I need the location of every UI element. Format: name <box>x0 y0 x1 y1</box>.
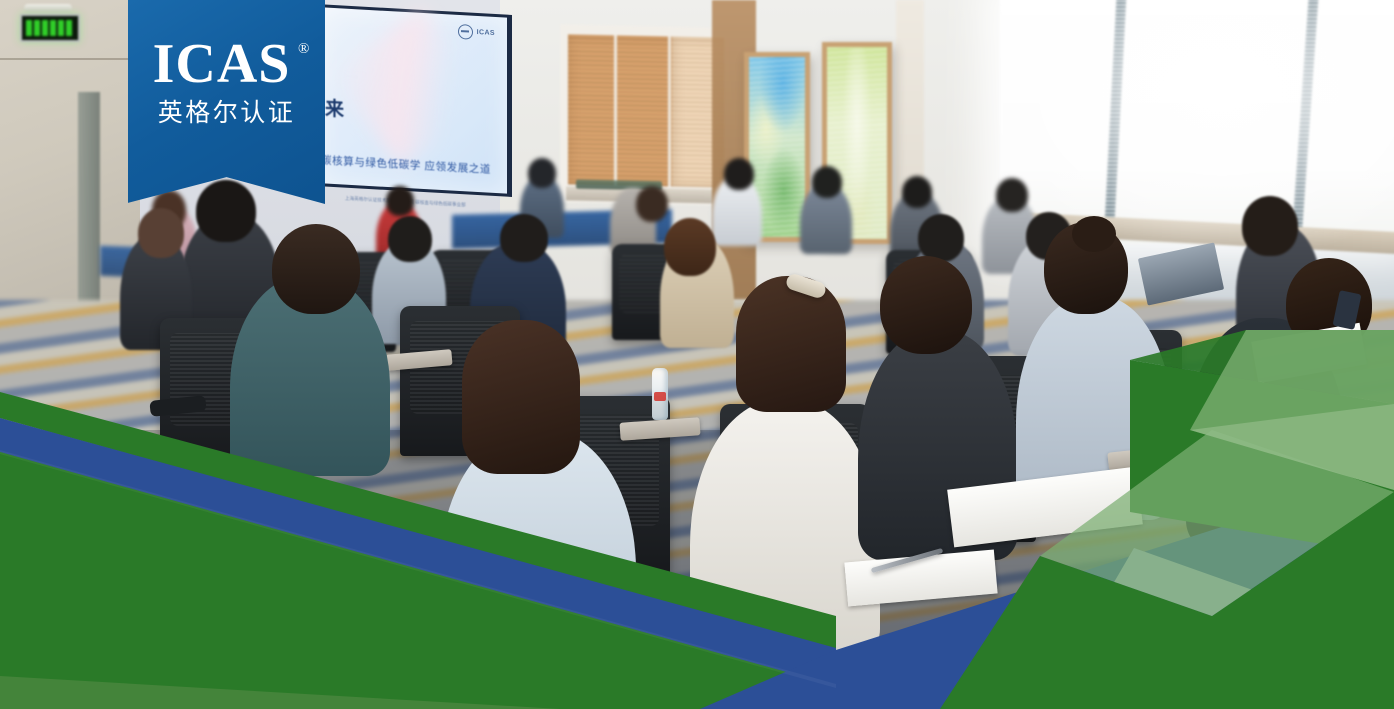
attendee-head <box>500 214 548 262</box>
attendee-head <box>664 218 716 276</box>
slide-logo: ICAS <box>458 24 495 41</box>
attendee-head <box>462 320 580 474</box>
attendee-head <box>724 158 754 190</box>
door-frame <box>78 92 100 322</box>
blinds-divider <box>668 36 671 186</box>
attendee-head <box>1242 196 1298 256</box>
attendee-head <box>528 158 556 188</box>
attendee-foreground <box>690 400 880 660</box>
attendee-head <box>138 208 184 258</box>
attendee-head <box>388 216 432 262</box>
attendee-head <box>636 186 668 222</box>
blinds-divider <box>614 35 617 185</box>
blinds-window <box>560 24 730 206</box>
attendee-head <box>812 166 842 198</box>
attendee-head <box>272 224 360 314</box>
brand-wordmark: ICAS ® <box>153 38 301 91</box>
hair-bun <box>1072 216 1116 252</box>
slide-title: 来 <box>325 94 345 122</box>
exit-sign-icon <box>20 14 80 42</box>
registered-trademark-icon: ® <box>298 42 310 56</box>
brand-logo-panel: ICAS ® 英格尔认证 <box>128 0 325 206</box>
slide-logo-icon <box>458 24 473 40</box>
brand-chinese-name: 英格尔认证 <box>128 93 325 129</box>
ceiling-lamp <box>24 4 72 12</box>
attendee-head <box>880 256 972 354</box>
brand-logo: ICAS ® 英格尔认证 <box>128 38 325 129</box>
attendee-head <box>918 214 964 262</box>
wall-seam <box>0 58 140 60</box>
attendee-head <box>996 178 1028 212</box>
attendee-head <box>196 180 256 242</box>
banner-canvas: ICAS 来 碳核算与绿色低碳学 应领发展之道 上海英格尔认证技术服务有限公司 … <box>0 0 1394 709</box>
brand-wordmark-text: ICAS <box>153 33 291 95</box>
projector-screen: ICAS 来 碳核算与绿色低碳学 应领发展之道 上海英格尔认证技术服务有限公司 … <box>316 4 512 197</box>
water-bottle <box>652 368 668 420</box>
wall-left <box>0 0 140 330</box>
attendee-head <box>386 186 414 216</box>
slide-logo-text: ICAS <box>477 29 495 37</box>
attendee-head <box>736 276 846 412</box>
attendee-head <box>902 176 932 208</box>
